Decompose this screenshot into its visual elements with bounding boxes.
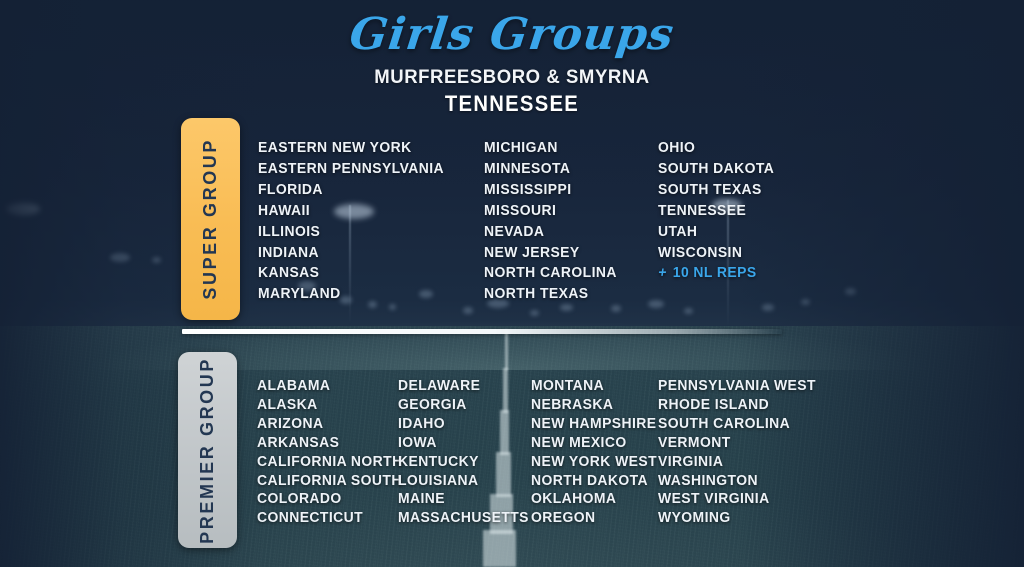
state-list-item: OHIO <box>658 138 831 159</box>
state-column: MONTANANEBRASKANEW HAMPSHIRENEW MEXICONE… <box>531 377 658 528</box>
subtitle-location: MURFREESBORO & SMYRNA <box>26 66 999 89</box>
state-list-item: NORTH CAROLINA <box>484 263 651 284</box>
group-tab-label: SUPER GROUP <box>200 138 221 300</box>
state-column: MICHIGANMINNESOTAMISSISSIPPIMISSOURINEVA… <box>484 138 658 305</box>
state-list-item: TENNESSEE <box>658 201 831 222</box>
state-list-item: MONTANA <box>531 377 653 396</box>
state-list-item: SOUTH CAROLINA <box>658 415 831 434</box>
state-list-item: NEW YORK WEST <box>531 453 653 472</box>
state-list-item: MASSACHUSETTS <box>398 509 526 528</box>
state-list-item: NORTH TEXAS <box>484 284 651 305</box>
state-list-item: LOUISIANA <box>398 472 526 491</box>
state-list-item: DELAWARE <box>398 377 526 396</box>
premier-group-state-columns: ALABAMAALASKAARIZONAARKANSASCALIFORNIA N… <box>257 377 838 528</box>
state-list-item: NORTH DAKOTA <box>531 472 653 491</box>
state-list-item: EASTERN PENNSYLVANIA <box>258 159 475 180</box>
state-list-item: VERMONT <box>658 434 831 453</box>
state-list-item: COLORADO <box>257 490 392 509</box>
state-list-item: MAINE <box>398 490 526 509</box>
group-tab-super-group[interactable]: SUPER GROUP <box>181 118 240 320</box>
header: Girls Groups MURFREESBORO & SMYRNA TENNE… <box>0 0 1024 117</box>
state-list-item: WISCONSIN <box>658 243 831 264</box>
state-list-item: NEW HAMPSHIRE <box>531 415 653 434</box>
state-list-item: ALABAMA <box>257 377 392 396</box>
state-list-item: RHODE ISLAND <box>658 396 831 415</box>
state-list-item: HAWAII <box>258 201 475 222</box>
state-list-item: GEORGIA <box>398 396 526 415</box>
state-column: DELAWAREGEORGIAIDAHOIOWAKENTUCKYLOUISIAN… <box>398 377 531 528</box>
state-list-item: IDAHO <box>398 415 526 434</box>
state-list-item: NEW JERSEY <box>484 243 651 264</box>
plus-icon: + <box>657 263 668 284</box>
state-list-item: MISSOURI <box>484 201 651 222</box>
state-list-item: ARKANSAS <box>257 434 392 453</box>
state-list-item: SOUTH TEXAS <box>658 180 831 201</box>
state-list-item: NEVADA <box>484 222 651 243</box>
group-tab-premier-group[interactable]: PREMIER GROUP <box>178 352 237 548</box>
state-list-item: WYOMING <box>658 509 831 528</box>
state-list-item: CALIFORNIA NORTH <box>257 453 392 472</box>
state-list-item: WASHINGTON <box>658 472 831 491</box>
state-list-item: ILLINOIS <box>258 222 475 243</box>
state-list-item: CONNECTICUT <box>257 509 392 528</box>
state-list-item: ALASKA <box>257 396 392 415</box>
state-list-item: NEW MEXICO <box>531 434 653 453</box>
slide-canvas: Girls Groups MURFREESBORO & SMYRNA TENNE… <box>0 0 1024 567</box>
state-list-item: NEBRASKA <box>531 396 653 415</box>
state-list-item: UTAH <box>658 222 831 243</box>
state-list-item: MARYLAND <box>258 284 475 305</box>
page-title: Girls Groups <box>0 9 1024 60</box>
state-column: EASTERN NEW YORKEASTERN PENNSYLVANIAFLOR… <box>258 138 484 305</box>
state-list-item: OKLAHOMA <box>531 490 653 509</box>
state-list-item: INDIANA <box>258 243 475 264</box>
state-list-item: PENNSYLVANIA WEST <box>658 377 831 396</box>
state-column: OHIOSOUTH DAKOTASOUTH TEXASTENNESSEEUTAH… <box>658 138 838 305</box>
state-list-item: KANSAS <box>258 263 475 284</box>
state-column: ALABAMAALASKAARIZONAARKANSASCALIFORNIA N… <box>257 377 398 528</box>
state-list-item: IOWA <box>398 434 526 453</box>
state-list-item: MICHIGAN <box>484 138 651 159</box>
state-list-item: MINNESOTA <box>484 159 651 180</box>
state-list-item: VIRGINIA <box>658 453 831 472</box>
state-list-item: KENTUCKY <box>398 453 526 472</box>
state-list-item: ARIZONA <box>257 415 392 434</box>
super-group-state-columns: EASTERN NEW YORKEASTERN PENNSYLVANIAFLOR… <box>258 138 838 305</box>
state-list-item: MISSISSIPPI <box>484 180 651 201</box>
group-tab-label: PREMIER GROUP <box>197 357 218 544</box>
state-list-item: FLORIDA <box>258 180 475 201</box>
state-list-item: EASTERN NEW YORK <box>258 138 475 159</box>
state-list-item: CALIFORNIA SOUTH <box>257 472 392 491</box>
state-list-item: WEST VIRGINIA <box>658 490 831 509</box>
state-list-item-accent: + 10 NL REPS <box>658 263 831 284</box>
state-list-item: OREGON <box>531 509 653 528</box>
state-list-item: SOUTH DAKOTA <box>658 159 831 180</box>
section-divider <box>182 329 782 334</box>
subtitle-state: TENNESSEE <box>41 91 983 117</box>
state-column: PENNSYLVANIA WESTRHODE ISLANDSOUTH CAROL… <box>658 377 838 528</box>
